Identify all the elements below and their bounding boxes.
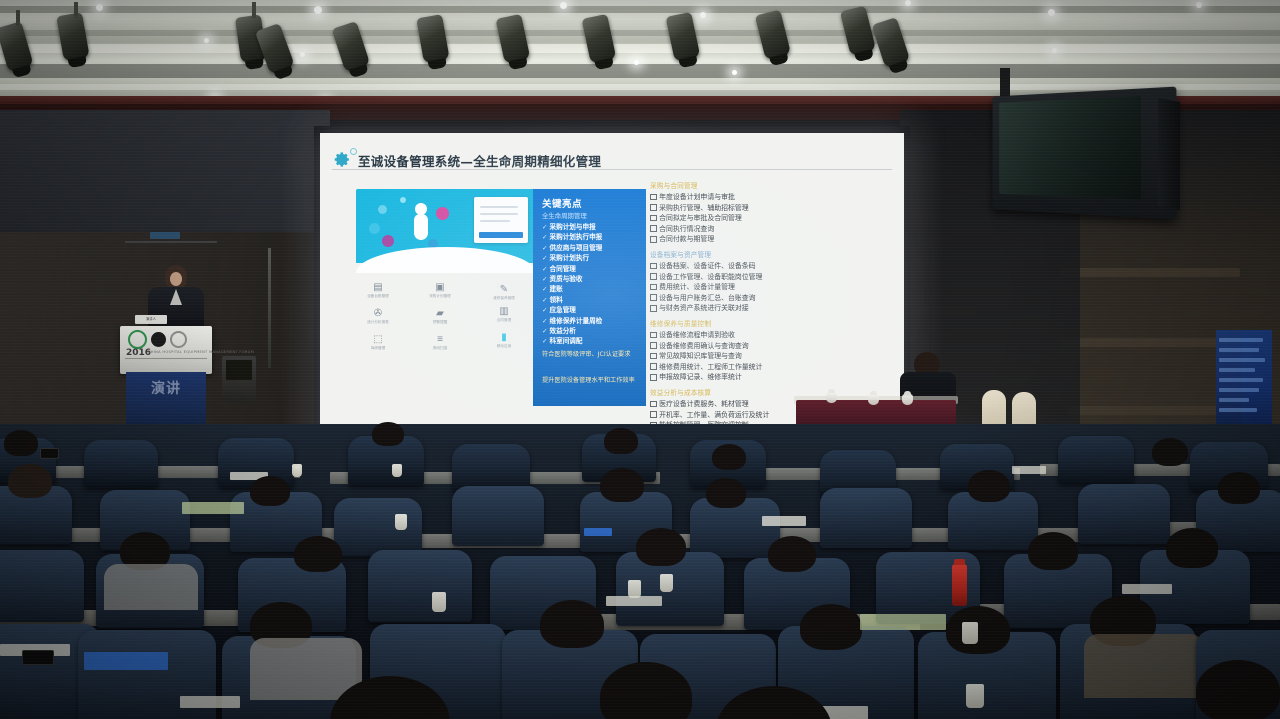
key-item-label: 采购计划执行申报: [550, 233, 603, 241]
check-icon: ✓: [542, 337, 548, 345]
presenter-face: [170, 272, 182, 286]
wall-sign: [150, 232, 180, 239]
checkbox-icon: [650, 342, 657, 349]
doc-icon: ▤: [356, 281, 400, 294]
feature-icon-item: ▰ 预警提醒: [418, 307, 462, 325]
bullet-label: 设备维修费用确认与查询查询: [659, 342, 749, 350]
podium-divider: [125, 358, 207, 359]
key-highlights-note: 符合医院等级评审、JCI认证要求: [542, 351, 642, 360]
slide-illustration: ▤ 设备台账管理 ▣ 采购计划管理 ✎ 维修保养管理 ✇ 统计分析报表 ▰: [356, 189, 536, 299]
ceiling: [0, 0, 1280, 104]
microphone-stand: [268, 248, 271, 368]
feature-icon-item: ✎ 维修保养管理: [482, 283, 526, 301]
podium-logo: [128, 331, 187, 347]
left-wall-trim: [125, 241, 217, 243]
bell-icon: ▰: [418, 307, 462, 320]
checkbox-icon: [650, 204, 657, 211]
bullet-label: 设备与用户账务汇总、台账查询: [659, 294, 755, 302]
chart-icon: ✇: [356, 307, 400, 320]
audience-area: [0, 424, 1280, 719]
check-icon: ✓: [542, 285, 548, 293]
bullet-label: 维修费用统计、工程师工作量统计: [659, 363, 762, 371]
bullet-label: 设备档案、设备证件、设备条码: [659, 262, 755, 270]
podium-front-text: 演讲: [126, 380, 206, 399]
key-item-label: 领料: [550, 296, 563, 304]
check-icon: ✓: [542, 233, 548, 241]
key-item-label: 供应商与项目管理: [550, 244, 603, 252]
checkbox-icon: [650, 411, 657, 418]
checkbox-icon: [650, 273, 657, 280]
conference-hall-photo: 至诚设备管理系统—全生命周期精细化管理 ▤: [0, 0, 1280, 719]
group-heading: 设备档案与资产管理: [650, 250, 888, 261]
illustration-login-card: [474, 197, 528, 243]
checkbox-icon: [650, 194, 657, 201]
checkbox-icon: [650, 353, 657, 360]
teacup: [902, 394, 913, 405]
bullet-label: 费用统计、设备计量管理: [659, 283, 735, 291]
box-icon: ⬚: [356, 333, 400, 346]
check-icon: ✓: [542, 317, 548, 325]
feature-icon-item: ⬚ 库房管理: [356, 333, 400, 351]
bullet-label: 与财务资产系统进行关联对接: [659, 304, 749, 312]
nameplate-text: 演讲人: [135, 315, 167, 324]
key-item-label: 维修保养计量周检: [550, 317, 603, 325]
check-icon: ✓: [542, 254, 548, 262]
key-highlights-panel: 关键亮点 全生命周期管理 ✓采购计划与申报 ✓采购计划执行申报 ✓供应商与项目管…: [533, 189, 646, 406]
checkbox-icon: [650, 401, 657, 408]
gear-icon: [334, 151, 351, 168]
bullet-label: 常见故障知识库管理与查询: [659, 352, 742, 360]
check-icon: ✓: [542, 275, 548, 283]
monitor-bracket: [1000, 68, 1010, 98]
feature-icon-item: ≡ 条码扫描: [418, 333, 462, 351]
monitor-side-panel: [1158, 98, 1180, 210]
checkbox-icon: [650, 284, 657, 291]
bullet-label: 开机率、工作量、满负荷运行及统计: [659, 411, 769, 419]
grey-ring-icon: [170, 331, 187, 348]
bullet-label: 设备维修流程申请到验收: [659, 331, 735, 339]
key-highlights-title: 关键亮点: [542, 196, 582, 210]
feature-icon-item: ▥ 合同管理: [482, 305, 526, 323]
checkbox-icon: [650, 215, 657, 222]
green-ring-icon: [128, 330, 147, 349]
check-icon: ✓: [542, 327, 548, 335]
monitor-screen: [999, 96, 1141, 200]
checkbox-icon: [650, 363, 657, 370]
nameplate: 演讲人: [135, 315, 167, 324]
key-item-label: 合同管理: [550, 265, 576, 273]
teacup: [826, 392, 837, 403]
bullet-label: 申报故障记录、维修率统计: [659, 373, 742, 381]
slide-title: 至诚设备管理系统—全生命周期精细化管理: [358, 151, 601, 170]
group-heading: 采购与合同管理: [650, 181, 888, 192]
group-heading: 维修保养与质量控制: [650, 319, 888, 330]
teacup: [868, 394, 879, 405]
podium: 2016 CHINA HOSPITAL EQUIPMENT MANAGEMENT…: [120, 326, 212, 374]
speaker-cabinet: [222, 356, 256, 402]
check-icon: ✓: [542, 223, 548, 231]
check-icon: ✓: [542, 265, 548, 273]
feature-icon-item: ▮ 移动应用: [482, 331, 526, 349]
key-highlights-list: ✓采购计划与申报 ✓采购计划执行申报 ✓供应商与项目管理 ✓采购计划执行 ✓合同…: [542, 222, 642, 347]
wall-monitor: [993, 87, 1177, 220]
checkbox-icon: [650, 374, 657, 381]
contract-icon: ▥: [482, 305, 526, 318]
key-item-label: 资质与验收: [550, 275, 583, 283]
check-icon: ✓: [542, 296, 548, 304]
mobile-icon: ▮: [482, 331, 526, 344]
bullet-label: 年度设备计划申请与审批: [659, 193, 735, 201]
clipboard-icon: ▣: [418, 281, 462, 294]
key-item-label: 采购计划执行: [550, 254, 590, 262]
mascot-icon: [414, 203, 428, 241]
feature-icon-item: ▤ 设备台账管理: [356, 281, 400, 299]
key-item-label: 科室间调配: [550, 337, 583, 345]
checkbox-icon: [650, 305, 657, 312]
feature-icon-item: ▣ 采购计划管理: [418, 281, 462, 299]
right-banner: [1216, 330, 1272, 428]
bullet-group: 采购与合同管理 年度设备计划申请与审批 采购执行管理、辅助招标管理 合同拟定与审…: [650, 181, 888, 245]
slide-header: 至诚设备管理系统—全生命周期精细化管理: [320, 143, 904, 177]
slide-title-divider: [332, 169, 892, 170]
key-item-label: 效益分析: [550, 327, 576, 335]
key-item-label: 建账: [550, 285, 563, 293]
bullet-label: 采购执行管理、辅助招标管理: [659, 204, 749, 212]
checkbox-icon: [650, 225, 657, 232]
bullet-group: 设备档案与资产管理 设备档案、设备证件、设备条码 设备工作管理、设备职能岗位管理…: [650, 250, 888, 314]
scan-icon: ≡: [418, 333, 462, 346]
bullet-group: 维修保养与质量控制 设备维修流程申请到验收 设备维修费用确认与查询查询 常见故障…: [650, 319, 888, 383]
checkbox-icon: [650, 236, 657, 243]
check-icon: ✓: [542, 244, 548, 252]
bullet-label: 合同付款与期管理: [659, 235, 714, 243]
check-icon: ✓: [542, 306, 548, 314]
bullet-label: 合同执行情况查询: [659, 225, 714, 233]
speaker-grill: [226, 360, 252, 380]
checkbox-icon: [650, 332, 657, 339]
feature-icon-item: ✇ 统计分析报表: [356, 307, 400, 325]
bullet-label: 合同拟定与审批及合同管理: [659, 214, 742, 222]
gear-accent-dot-icon: [350, 148, 357, 155]
key-item-label: 应急管理: [550, 306, 576, 314]
bullet-label: 设备工作管理、设备职能岗位管理: [659, 273, 762, 281]
dark-circle-icon: [151, 332, 166, 347]
checkbox-icon: [650, 294, 657, 301]
checkbox-icon: [650, 263, 657, 270]
key-highlights-subtitle: 全生命周期管理: [542, 211, 587, 220]
bullet-label: 医疗设备计费服务、耗材管理: [659, 400, 749, 408]
wrench-icon: ✎: [482, 283, 526, 296]
key-item-label: 采购计划与申报: [550, 223, 596, 231]
key-highlights-note: 提升医院设备管理水平和工作效率: [542, 377, 642, 386]
podium-subtitle: CHINA HOSPITAL EQUIPMENT MANAGEMENT FORU…: [148, 350, 254, 354]
